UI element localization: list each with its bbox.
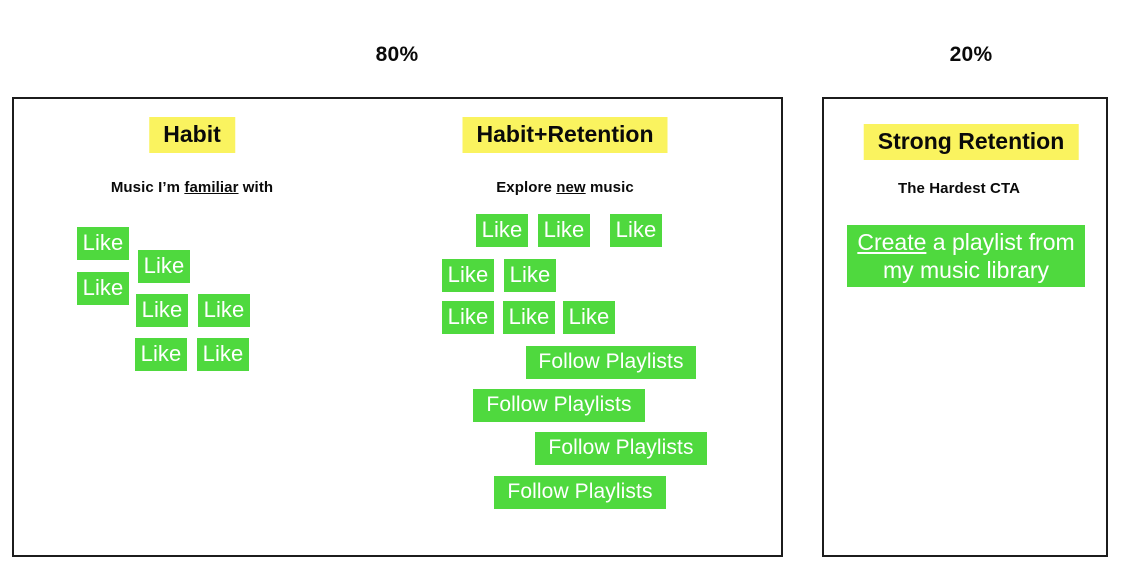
like-chip[interactable]: Like (476, 214, 528, 247)
cta-line-1: Create a playlist from (857, 228, 1074, 256)
like-chip[interactable]: Like (197, 338, 249, 371)
subtitle-emphasis: new (556, 179, 585, 196)
like-chip[interactable]: Like (610, 214, 662, 247)
like-chip[interactable]: Like (77, 272, 129, 305)
follow-playlists-chip[interactable]: Follow Playlists (526, 346, 696, 379)
column-title-habit-retention: Habit+Retention (463, 117, 668, 153)
like-chip[interactable]: Like (138, 250, 190, 283)
subtitle-emphasis: familiar (184, 179, 238, 196)
retention-panel (822, 97, 1108, 557)
like-chip[interactable]: Like (538, 214, 590, 247)
like-chip[interactable]: Like (77, 227, 129, 260)
cta-verb: Create (857, 229, 926, 255)
like-chip[interactable]: Like (504, 259, 556, 292)
follow-playlists-chip[interactable]: Follow Playlists (535, 432, 707, 465)
habit-panel (12, 97, 783, 557)
column-subtitle-habit: Music I’m familiar with (111, 179, 273, 196)
create-playlist-cta[interactable]: Create a playlist frommy music library (847, 225, 1085, 287)
column-title-strong-retention: Strong Retention (864, 124, 1079, 160)
like-chip[interactable]: Like (135, 338, 187, 371)
percent-label-left-group: 80% (376, 43, 419, 67)
like-chip[interactable]: Like (198, 294, 250, 327)
like-chip[interactable]: Like (136, 294, 188, 327)
follow-playlists-chip[interactable]: Follow Playlists (473, 389, 645, 422)
follow-playlists-chip[interactable]: Follow Playlists (494, 476, 666, 509)
column-title-habit: Habit (149, 117, 235, 153)
like-chip[interactable]: Like (442, 301, 494, 334)
percent-label-right-group: 20% (950, 43, 993, 67)
like-chip[interactable]: Like (442, 259, 494, 292)
cta-line-2: my music library (883, 256, 1049, 284)
like-chip[interactable]: Like (503, 301, 555, 334)
like-chip[interactable]: Like (563, 301, 615, 334)
slide-canvas: 80%20% HabitMusic I’m familiar withHabit… (0, 0, 1129, 587)
column-subtitle-strong-retention: The Hardest CTA (898, 180, 1020, 197)
column-subtitle-habit-retention: Explore new music (496, 179, 634, 196)
